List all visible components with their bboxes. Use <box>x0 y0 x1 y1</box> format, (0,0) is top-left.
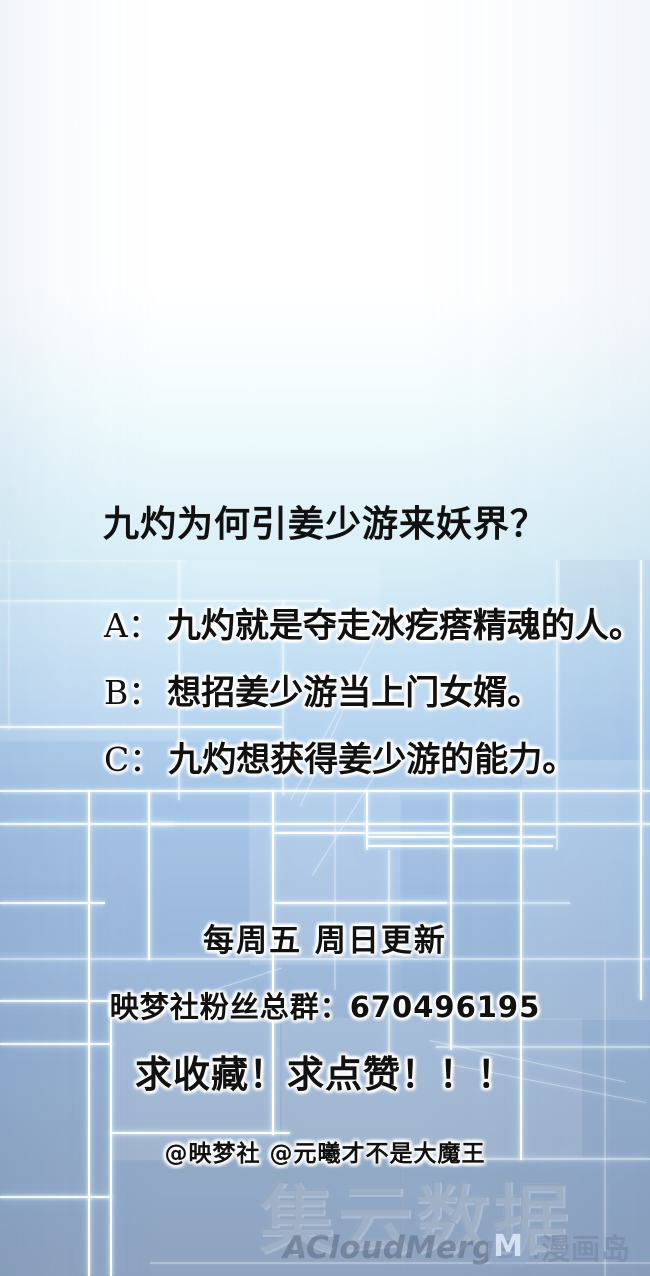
quiz-option-c[interactable]: C： 九灼想获得姜少游的能力。 <box>0 732 650 781</box>
comic-page: 集云数据 ACloudMerge M .漫画岛 九灼为何引姜少游来妖界？ A： … <box>0 0 650 1276</box>
quiz-options-list: A： 九灼就是夺走冰疙瘩精魂的人。 B： 想招姜少游当上门女婿。 C： 九灼想获… <box>0 598 650 799</box>
quiz-option-a[interactable]: A： 九灼就是夺走冰疙瘩精魂的人。 <box>0 598 650 647</box>
option-text: 九灼想获得姜少游的能力。 <box>168 732 576 781</box>
option-text: 九灼就是夺走冰疙瘩精魂的人。 <box>167 598 643 647</box>
fan-group-info: 映梦社粉丝总群：670496195 <box>0 984 650 1026</box>
call-to-action: 求收藏！求点赞！！！ <box>0 1044 650 1098</box>
option-key: B： <box>104 666 161 714</box>
footer-block: 每周五 周日更新 映梦社粉丝总群：670496195 求收藏！求点赞！！！ @映… <box>0 915 650 1168</box>
quiz-option-b[interactable]: B： 想招姜少游当上门女婿。 <box>0 665 650 714</box>
page-content: 九灼为何引姜少游来妖界？ A： 九灼就是夺走冰疙瘩精魂的人。 B： 想招姜少游当… <box>0 0 650 1276</box>
option-text: 想招姜少游当上门女婿。 <box>167 665 541 714</box>
update-schedule: 每周五 周日更新 <box>0 915 650 960</box>
author-credits: @映梦社 @元曦才不是大魔王 <box>0 1134 650 1168</box>
quiz-question: 九灼为何引姜少游来妖界？ <box>0 495 650 547</box>
option-key: A： <box>104 599 161 647</box>
option-key: C： <box>104 733 162 781</box>
